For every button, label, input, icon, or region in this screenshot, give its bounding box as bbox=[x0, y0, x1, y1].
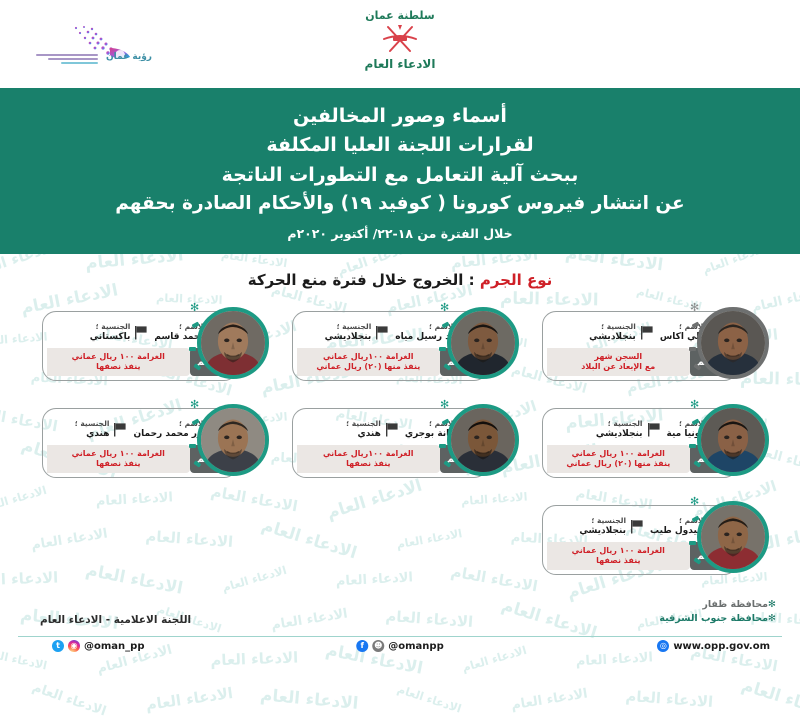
offender-photo-wrap: ✻ bbox=[688, 303, 774, 393]
offender-photo bbox=[701, 408, 765, 472]
offender-photo bbox=[451, 408, 515, 472]
sentence-line-2: ينفذ منها (٢٠) ريال عماني bbox=[566, 459, 670, 469]
sentence-line-2: ينفذ نصفها bbox=[96, 459, 140, 469]
sentence-line-2: ينفذ نصفها bbox=[596, 556, 640, 566]
social-twitter-instagram[interactable]: t ◉ @oman_pp bbox=[52, 640, 144, 652]
ring-accent-tick bbox=[442, 322, 450, 328]
flag-icon bbox=[640, 325, 654, 340]
offender-card[interactable]: الاسم ؛سيدول طيبالجنسية ؛بنجلاديشيالحكما… bbox=[534, 497, 774, 592]
watermark-word: الادعاء العام bbox=[145, 684, 234, 714]
nationality-label: الجنسية ؛ bbox=[346, 419, 381, 428]
sentence-value: الغرامة ١٠٠ ريال عمانيينفذ نصفها bbox=[547, 542, 690, 570]
sentence-value: السجن شهرمع الإبعاد عن البلاد bbox=[547, 348, 690, 376]
ring-accent-tick bbox=[189, 444, 196, 448]
ring-accent-tick bbox=[192, 322, 200, 328]
social-handle-omanpp: @omanpp bbox=[388, 641, 443, 652]
asterisk-icon: ✻ bbox=[690, 398, 699, 411]
sentence-line-1: الغرامة ١٠٠ ريال عماني bbox=[572, 449, 665, 459]
sentence-value: الغرامة ١٠٠ريال عمانيينفذ منها (٢٠) ريال… bbox=[297, 348, 440, 376]
offender-card[interactable]: الاسم ؛علي اكاسالجنسية ؛بنجلاديشيالحكمال… bbox=[534, 303, 774, 398]
website-url: www.opp.gov.om bbox=[673, 641, 770, 652]
title-line-3: ببحث آلية التعامل مع التطورات الناتجة bbox=[40, 161, 760, 190]
crime-type-value: الخروج خلال فترة منع الحركة bbox=[248, 271, 464, 289]
offender-photo bbox=[701, 311, 765, 375]
footer-divider bbox=[18, 636, 782, 637]
watermark-word: الادعاء العام bbox=[30, 679, 108, 719]
title-banner: أسماء وصور المخالفين لقرارات اللجنة العل… bbox=[0, 88, 800, 254]
asterisk-icon: ✻ bbox=[190, 301, 199, 314]
sentence-value: الغرامة ١٠٠ ريال عمانيينفذ نصفها bbox=[47, 348, 190, 376]
nationality-field: الجنسية ؛باكستاني bbox=[90, 322, 149, 342]
nationality-field: الجنسية ؛هندي bbox=[75, 419, 128, 439]
photo-ring bbox=[697, 404, 769, 476]
offender-card[interactable]: الاسم ؛محمد قاسمالجنسية ؛باكستانيالحكمال… bbox=[34, 303, 274, 398]
crime-type-row: نوع الجرم : الخروج خلال فترة منع الحركة bbox=[0, 254, 800, 299]
nationality-label: الجنسية ؛ bbox=[325, 322, 372, 331]
asterisk-icon: ✻ bbox=[190, 398, 199, 411]
social-handle-oman-pp: @oman_pp bbox=[84, 641, 144, 652]
oman-vision-logo: رؤية عمان bbox=[34, 24, 154, 76]
offender-photo-wrap: ✻ bbox=[438, 400, 524, 490]
flag-icon bbox=[647, 422, 661, 437]
ring-accent-tick bbox=[442, 419, 450, 425]
offender-photo bbox=[201, 408, 265, 472]
offender-photo-wrap: ✻ bbox=[188, 400, 274, 490]
watermark-word: الادعاء العام bbox=[510, 685, 589, 713]
sentence-line-2: ينفذ نصفها bbox=[346, 459, 390, 469]
flag-icon bbox=[630, 519, 644, 534]
sentence-line-2: مع الإبعاد عن البلاد bbox=[581, 362, 655, 372]
emblem-bottom-text: الادعاء العام bbox=[335, 58, 465, 71]
social-facebook-snapchat[interactable]: f ☻ @omanpp bbox=[356, 640, 443, 652]
watermark-word: الادعاء العام bbox=[739, 675, 800, 723]
nationality-field: الجنسية ؛بنجلاديشي bbox=[596, 419, 661, 439]
card-row: الاسم ؛علي اكاسالجنسية ؛بنجلاديشيالحكمال… bbox=[26, 303, 774, 398]
watermark-word: الادعاء العام bbox=[625, 687, 714, 711]
asterisk-icon: ✻ bbox=[690, 495, 699, 508]
photo-ring bbox=[447, 307, 519, 379]
logo-left-label: رؤية عمان bbox=[106, 52, 152, 62]
twitter-icon[interactable]: t bbox=[52, 640, 64, 652]
footer-social-row: t ◉ @oman_pp f ☻ @omanpp ◎ www.opp.gov.o… bbox=[0, 640, 800, 658]
ring-accent-tick bbox=[689, 541, 696, 545]
offender-photo bbox=[701, 505, 765, 569]
offender-nationality: هندي bbox=[75, 429, 110, 440]
sentence-line-2: ينفذ منها (٢٠) ريال عماني bbox=[316, 362, 420, 372]
sentence-value: الغرامة ١٠٠ريال عمانيينفذ نصفها bbox=[297, 445, 440, 473]
crime-type-label: نوع الجرم bbox=[480, 271, 552, 289]
ring-accent-tick bbox=[189, 347, 196, 351]
offender-photo-wrap: ✻ bbox=[688, 497, 774, 587]
ring-accent-tick bbox=[689, 444, 696, 448]
flag-icon bbox=[375, 325, 389, 340]
watermark-word: الادعاء العام bbox=[259, 685, 359, 713]
nationality-label: الجنسية ؛ bbox=[75, 419, 110, 428]
nationality-field: الجنسية ؛بنجلاديشي bbox=[325, 322, 390, 342]
offender-card[interactable]: الاسم ؛نور محمد رحمانالجنسية ؛هنديالحكما… bbox=[34, 400, 274, 495]
photo-ring bbox=[197, 307, 269, 379]
instagram-icon[interactable]: ◉ bbox=[68, 640, 80, 652]
emblem-top-text: سلطنة عمان bbox=[335, 10, 465, 22]
offender-nationality: باكستاني bbox=[90, 332, 131, 343]
offender-nationality: بنجلاديشي bbox=[325, 332, 372, 343]
nationality-field: الجنسية ؛بنجلاديشي bbox=[589, 322, 654, 342]
offender-photo-wrap: ✻ bbox=[688, 400, 774, 490]
ring-accent-tick bbox=[192, 419, 200, 425]
card-row: الاسم ؛سيدول طيبالجنسية ؛بنجلاديشيالحكما… bbox=[26, 497, 774, 592]
facebook-icon[interactable]: f bbox=[356, 640, 368, 652]
photo-ring bbox=[697, 501, 769, 573]
flag-icon bbox=[385, 422, 399, 437]
ring-accent-tick bbox=[692, 322, 700, 328]
sentence-value: الغرامة ١٠٠ ريال عمانيينفذ نصفها bbox=[47, 445, 190, 473]
photo-ring bbox=[697, 307, 769, 379]
page-footer: اللجنة الاعلامية - الادعاء العام t ◉ @om… bbox=[0, 606, 800, 658]
ring-accent-tick bbox=[689, 347, 696, 351]
website-link[interactable]: ◎ www.opp.gov.om bbox=[657, 640, 770, 652]
nationality-label: الجنسية ؛ bbox=[90, 322, 131, 331]
sentence-line-1: الغرامة ١٠٠ ريال عماني bbox=[72, 352, 165, 362]
offender-photo-wrap: ✻ bbox=[438, 303, 524, 393]
title-line-1: أسماء وصور المخالفين bbox=[40, 102, 760, 131]
nationality-field: الجنسية ؛هندي bbox=[346, 419, 399, 439]
offender-card[interactable]: الاسم ؛مونيا ميةالجنسية ؛بنجلاديشيالحكما… bbox=[534, 400, 774, 495]
ring-accent-tick bbox=[692, 516, 700, 522]
photo-ring bbox=[197, 404, 269, 476]
sentence-line-1: السجن شهر bbox=[594, 352, 642, 362]
sentence-line-2: ينفذ نصفها bbox=[96, 362, 140, 372]
nationality-label: الجنسية ؛ bbox=[589, 322, 636, 331]
sentence-value: الغرامة ١٠٠ ريال عمانيينفذ منها (٢٠) ريا… bbox=[547, 445, 690, 473]
flag-icon bbox=[113, 422, 127, 437]
nationality-label: الجنسية ؛ bbox=[596, 419, 643, 428]
offender-nationality: بنجلاديشي bbox=[579, 526, 626, 537]
sentence-line-1: الغرامة ١٠٠ريال عماني bbox=[323, 449, 414, 459]
website-icon[interactable]: ◎ bbox=[657, 640, 669, 652]
oman-public-prosecution-emblem: سلطنة عمان الادعاء العام bbox=[335, 10, 465, 82]
offender-photo bbox=[201, 311, 265, 375]
watermark-word: الادعاء العام bbox=[396, 682, 463, 715]
asterisk-icon: ✻ bbox=[440, 398, 449, 411]
sentence-line-1: الغرامة ١٠٠ريال عماني bbox=[323, 352, 414, 362]
offender-photo bbox=[451, 311, 515, 375]
title-line-2: لقرارات اللجنة العليا المكلفة bbox=[40, 131, 760, 160]
offender-nationality: هندي bbox=[346, 429, 381, 440]
asterisk-icon: ✻ bbox=[690, 301, 699, 314]
ring-accent-tick bbox=[439, 444, 446, 448]
offender-photo-wrap: ✻ bbox=[188, 303, 274, 393]
offender-nationality: بنجلاديشي bbox=[596, 429, 643, 440]
photo-ring bbox=[447, 404, 519, 476]
ring-accent-tick bbox=[692, 419, 700, 425]
logo-left-textlines bbox=[36, 54, 98, 68]
khanjar-emblem-icon bbox=[374, 23, 426, 57]
offender-card[interactable]: الاسم ؛أنانة بوجريالجنسية ؛هنديالحكمالغر… bbox=[284, 400, 524, 495]
page-header: رؤية عمان سلطنة عمان الادعاء العام bbox=[0, 0, 800, 88]
title-line-4: عن انتشار فيروس كورونا ( كوفيد ١٩) والأح… bbox=[40, 190, 760, 219]
nationality-label: الجنسية ؛ bbox=[579, 516, 626, 525]
title-period: خلال الفترة من ١٨-٢٢/ أكتوبر ٢٠٢٠م bbox=[40, 225, 760, 243]
crime-type-separator: : bbox=[463, 271, 479, 289]
flag-icon bbox=[134, 325, 148, 340]
asterisk-icon: ✻ bbox=[440, 301, 449, 314]
ring-accent-tick bbox=[439, 347, 446, 351]
offender-card[interactable]: الاسم ؛مد رسيل مياهالجنسية ؛بنجلاديشيالح… bbox=[284, 303, 524, 398]
snapchat-icon[interactable]: ☻ bbox=[372, 640, 384, 652]
sentence-line-1: الغرامة ١٠٠ ريال عماني bbox=[72, 449, 165, 459]
offender-nationality: بنجلاديشي bbox=[589, 332, 636, 343]
card-row: الاسم ؛مونيا ميةالجنسية ؛بنجلاديشيالحكما… bbox=[26, 400, 774, 495]
sentence-line-1: الغرامة ١٠٠ ريال عماني bbox=[572, 546, 665, 556]
nationality-field: الجنسية ؛بنجلاديشي bbox=[579, 516, 644, 536]
offender-cards-area: الاسم ؛علي اكاسالجنسية ؛بنجلاديشيالحكمال… bbox=[0, 299, 800, 592]
footer-department: اللجنة الاعلامية - الادعاء العام bbox=[40, 614, 191, 626]
